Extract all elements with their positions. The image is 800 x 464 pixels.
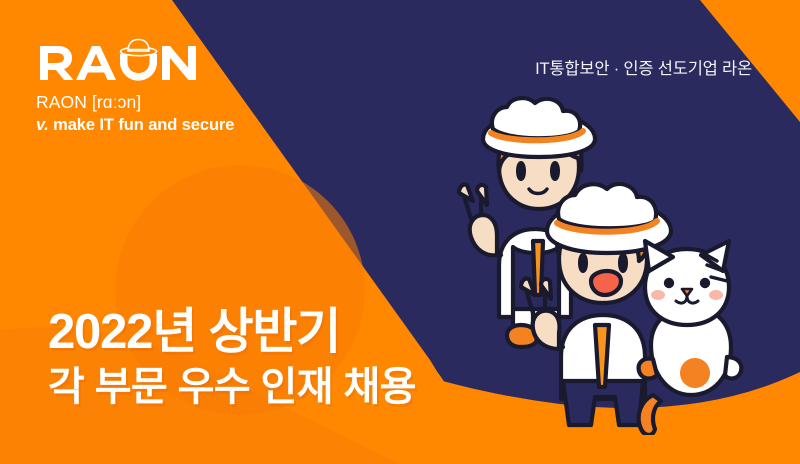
girl-eye-left — [516, 161, 526, 181]
brand-slogan-prefix: v. — [36, 116, 49, 134]
headline-line-2: 각 부문 우수 인재 채용 — [48, 365, 416, 410]
cat-cheek-left — [651, 290, 665, 300]
cat-cheek-right — [709, 290, 723, 300]
boy-eye-right — [618, 253, 628, 273]
cat-eye-left — [664, 278, 674, 288]
raon-logo-svg — [36, 36, 236, 84]
raon-wordmark-logo — [36, 36, 236, 82]
cat-eye-right — [700, 278, 710, 288]
mascot-illustration — [455, 95, 800, 435]
brand-slogan: v. make IT fun and secure — [36, 115, 266, 136]
cat-belly-spot — [680, 358, 710, 388]
headline-line-1: 2022년 상반기 — [48, 306, 416, 359]
mascot-svg — [455, 95, 800, 435]
brand-pronunciation: RAON [rɑːɔn] — [36, 92, 266, 114]
raon-cat-mascot — [639, 241, 742, 435]
logo-letter-r — [40, 46, 74, 80]
header-tagline-kr: IT통합보안 · 인증 선도기업 라온 — [535, 55, 752, 79]
boy-tie — [595, 325, 609, 387]
headline-block: 2022년 상반기 각 부문 우수 인재 채용 — [48, 306, 416, 410]
cat-paw-left — [639, 359, 657, 379]
brand-logo-block: RAON [rɑːɔn] v. make IT fun and secure — [36, 36, 266, 136]
boy-mouth — [591, 271, 621, 295]
brand-tagline: RAON [rɑːɔn] v. make IT fun and secure — [36, 92, 266, 136]
cat-paw-right — [725, 357, 741, 378]
girl-hat-crown — [492, 98, 580, 138]
logo-letter-a — [76, 46, 116, 80]
logo-letter-n — [162, 46, 196, 80]
boy-eye-left — [578, 253, 588, 273]
logo-letter-o — [120, 62, 157, 81]
brand-slogan-text: make IT fun and secure — [53, 116, 234, 134]
girl-hand — [470, 215, 497, 255]
girl-finger-1 — [459, 184, 473, 201]
recruitment-banner: RAON [rɑːɔn] v. make IT fun and secure I… — [0, 0, 800, 464]
girl-eye-right — [550, 161, 560, 181]
